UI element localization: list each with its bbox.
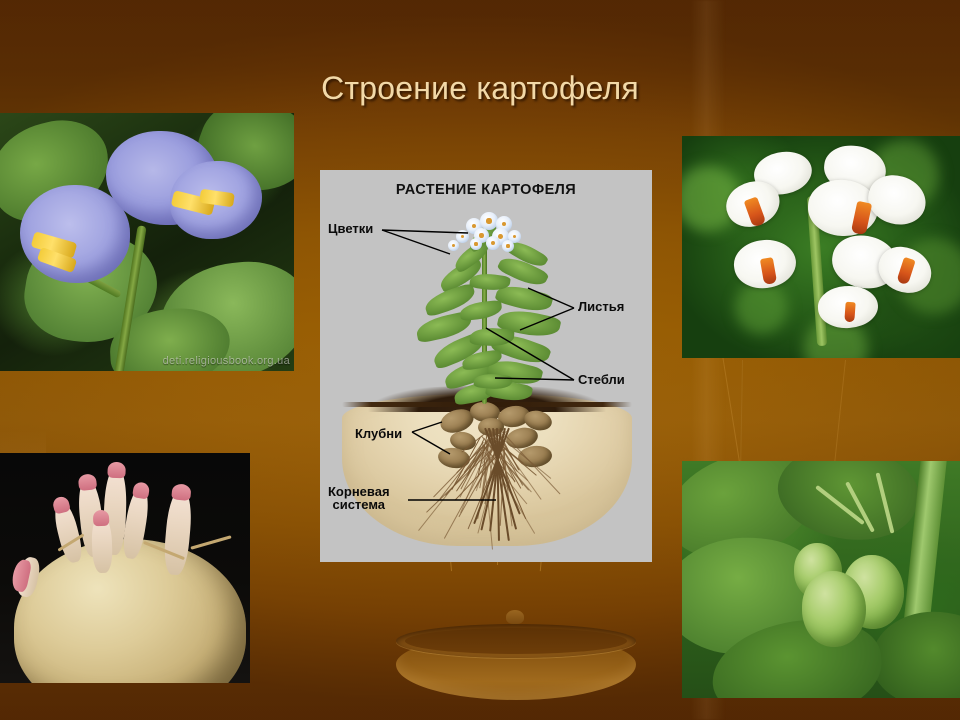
sprout-tip xyxy=(171,483,192,501)
sprout-tip xyxy=(78,473,97,491)
photo-green-potato-berries xyxy=(682,461,960,698)
sprout-tip xyxy=(132,481,150,499)
hanging-bowl-decoration xyxy=(396,624,636,710)
diagram-title: РАСТЕНИЕ КАРТОФЕЛЯ xyxy=(320,182,652,198)
potato-tuber xyxy=(14,539,246,683)
potato-berry xyxy=(802,571,866,647)
diagram-label-leaves: Листья xyxy=(578,300,624,313)
photo-white-potato-flowers xyxy=(682,136,960,358)
image-watermark: deti.religiousbook.org.ua xyxy=(163,355,290,367)
sprout-thread xyxy=(190,535,231,549)
sprout-tip xyxy=(93,510,110,527)
photo-sprouting-potato-tuber xyxy=(0,453,250,683)
diagram-flower-center xyxy=(491,241,495,245)
root-label-line2: система xyxy=(328,498,390,511)
leaf xyxy=(459,300,503,321)
sprout-tip xyxy=(107,462,125,479)
diagram-flower-center xyxy=(479,233,483,237)
orange-anther xyxy=(844,302,855,323)
sprout-tip xyxy=(52,495,71,514)
diagram-label-root-system: Корневая система xyxy=(328,485,390,512)
photo-purple-potato-flowers: deti.religiousbook.org.ua xyxy=(0,113,294,371)
bowl-knob xyxy=(506,610,524,624)
diagram-flower-center xyxy=(486,218,491,223)
diagram-flower-center xyxy=(506,244,509,247)
diagram-label-stems: Стебли xyxy=(578,373,625,386)
diagram-label-flowers: Цветки xyxy=(328,222,373,235)
diagram-flower-center xyxy=(474,242,477,245)
page-title: Строение картофеля xyxy=(0,70,960,107)
slide-canvas: Строение картофеля deti.religiousbook.or… xyxy=(0,0,960,720)
root-system xyxy=(438,428,548,544)
sprout-tip xyxy=(10,558,32,593)
bowl-rim xyxy=(396,624,636,658)
potato-plant-diagram: РАСТЕНИЕ КАРТОФЕЛЯ xyxy=(320,170,652,562)
diagram-label-tubers: Клубни xyxy=(355,427,402,440)
bowl-inner xyxy=(405,628,627,654)
